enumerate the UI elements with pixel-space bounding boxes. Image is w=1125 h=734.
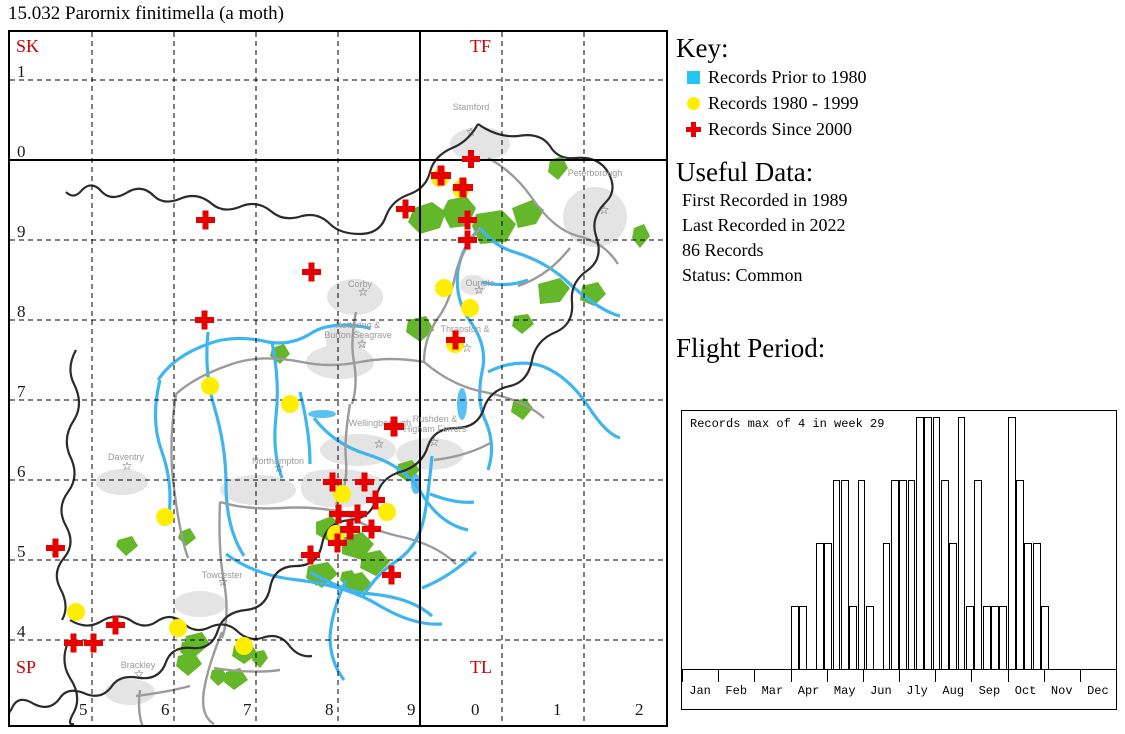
chart-bar (866, 606, 874, 669)
chart-bar (841, 480, 849, 669)
chart-bar (858, 480, 866, 669)
map-y-label-5: 5 (17, 542, 26, 562)
grid-corner-TF: TF (470, 36, 491, 57)
chart-bar (833, 480, 841, 669)
svg-text:Burton Seagrave: Burton Seagrave (324, 330, 392, 340)
key-label-pre-1980: Records Prior to 1980 (708, 67, 866, 88)
chart-bar (1008, 417, 1016, 669)
chart-bar (974, 480, 982, 669)
svg-text:Corby: Corby (348, 279, 373, 289)
page-title: 15.032 Parornix finitimella (a moth) (8, 2, 284, 26)
map-x-label-7: 7 (243, 700, 252, 720)
month-tick (682, 670, 683, 682)
chart-bar (899, 480, 907, 669)
record-markers-1980-1999 (67, 169, 479, 655)
chart-bar (1024, 543, 1032, 669)
month-tick (1008, 670, 1009, 682)
month-label-cell: Mar (754, 670, 790, 709)
chart-bar (941, 480, 949, 669)
month-label-cell: May (827, 670, 863, 709)
svg-text:☆: ☆ (374, 437, 385, 451)
month-tick (935, 670, 936, 682)
month-label-cell: Jun (863, 670, 899, 709)
month-name: May (827, 684, 863, 698)
cross-icon (682, 122, 704, 137)
useful-data-last-recorded: Last Recorded in 2022 (682, 213, 1117, 238)
month-name: Sep (971, 684, 1007, 698)
chart-bar (1033, 543, 1041, 669)
chart-bar (883, 543, 891, 669)
key-item-pre-1980: Records Prior to 1980 (682, 64, 1117, 90)
key-label-since-2000: Records Since 2000 (708, 119, 852, 140)
month-tick (827, 670, 828, 682)
month-label-cell: Sep (971, 670, 1007, 709)
flight-period-chart[interactable]: Records max of 4 in week 29 JanFebMarApr… (681, 410, 1117, 710)
chart-bar (849, 606, 857, 669)
month-name: Aug (935, 684, 971, 698)
map-y-label-7: 7 (17, 382, 26, 402)
map-x-label-2: 2 (635, 700, 644, 720)
month-tick (718, 670, 719, 682)
month-name: Dec (1080, 684, 1116, 698)
month-tick (971, 670, 972, 682)
month-label-cell: Dec (1080, 670, 1116, 709)
chart-bar (933, 417, 941, 669)
svg-text:Brackley: Brackley (121, 660, 156, 670)
key-label-1980-1999: Records 1980 - 1999 (708, 93, 858, 114)
flight-period-heading: Flight Period: (676, 332, 1117, 364)
month-label-cell: Apr (791, 670, 827, 709)
useful-data-first-recorded: First Recorded in 1989 (682, 188, 1117, 213)
month-label-cell: Jly (899, 670, 935, 709)
month-tick (899, 670, 900, 682)
month-name: Jly (899, 684, 935, 698)
map-graphic: ☆ ☆ ☆ ☆ ☆ ☆ ☆ ☆ ☆ ☆ ☆ ☆ Stamford Peterbo… (10, 32, 666, 725)
key-heading: Key: (676, 32, 1117, 64)
circle-icon (682, 97, 704, 110)
svg-text:Thrapston &: Thrapston & (440, 324, 489, 334)
chart-plot-area (682, 411, 1116, 669)
chart-bar (916, 417, 924, 669)
svg-text:☆: ☆ (466, 125, 477, 139)
map-y-label-8: 8 (17, 302, 26, 322)
chart-bar (966, 606, 974, 669)
key-item-since-2000: Records Since 2000 (682, 116, 1117, 142)
chart-bar (949, 543, 957, 669)
svg-text:Stamford: Stamford (453, 102, 490, 112)
grid-corner-SK: SK (16, 36, 39, 57)
svg-text:Peterborough: Peterborough (568, 168, 623, 178)
month-name: Mar (754, 684, 790, 698)
useful-data-status: Status: Common (682, 263, 1117, 288)
svg-text:Towcester: Towcester (202, 570, 243, 580)
chart-bar (908, 480, 916, 669)
map-y-label-6: 6 (17, 462, 26, 482)
month-label-cell: Jan (682, 670, 718, 709)
map-y-label-1: 1 (17, 62, 26, 82)
map-x-label-5: 5 (79, 700, 88, 720)
month-label-cell: Aug (935, 670, 971, 709)
svg-text:Rushden &: Rushden & (413, 414, 458, 424)
chart-bar (1041, 606, 1049, 669)
month-tick (791, 670, 792, 682)
svg-text:☆: ☆ (599, 203, 610, 217)
month-name: Oct (1008, 684, 1044, 698)
chart-bar (958, 417, 966, 669)
chart-bar (991, 606, 999, 669)
chart-bar (791, 606, 799, 669)
month-name: Apr (791, 684, 827, 698)
map-x-label-0: 0 (471, 700, 480, 720)
month-tick (863, 670, 864, 682)
map-x-label-9: 9 (407, 700, 416, 720)
month-name: Feb (718, 684, 754, 698)
month-tick (1080, 670, 1081, 682)
month-name: Jan (682, 684, 718, 698)
grid-corner-TL: TL (470, 657, 492, 678)
chart-bar (891, 480, 899, 669)
map-x-label-1: 1 (553, 700, 562, 720)
svg-text:Daventry: Daventry (108, 452, 145, 462)
useful-data-record-count: 86 Records (682, 238, 1117, 263)
svg-text:Northampton: Northampton (252, 456, 304, 466)
month-label-cell: Nov (1044, 670, 1080, 709)
map-y-label-9: 9 (17, 222, 26, 242)
month-label-cell: Feb (718, 670, 754, 709)
month-name: Jun (863, 684, 899, 698)
map-y-label-0: 0 (17, 142, 26, 162)
month-name: Nov (1044, 684, 1080, 698)
map-y-label-4: 4 (17, 622, 26, 642)
svg-text:Oundle: Oundle (465, 278, 494, 288)
chart-bar (924, 417, 932, 669)
grid-corner-SP: SP (16, 657, 36, 678)
map-grid (10, 32, 666, 725)
month-tick (754, 670, 755, 682)
chart-bar (999, 606, 1007, 669)
chart-bar (1016, 480, 1024, 669)
chart-bar (983, 606, 991, 669)
svg-text:Kettering &: Kettering & (336, 320, 381, 330)
month-tick (1044, 670, 1045, 682)
svg-text:☆: ☆ (429, 435, 440, 449)
month-label-cell: Oct (1008, 670, 1044, 709)
map-x-label-8: 8 (325, 700, 334, 720)
distribution-map-panel[interactable]: ☆ ☆ ☆ ☆ ☆ ☆ ☆ ☆ ☆ ☆ ☆ ☆ Stamford Peterbo… (8, 30, 668, 727)
key-item-1980-1999: Records 1980 - 1999 (682, 90, 1117, 116)
map-x-label-6: 6 (161, 700, 170, 720)
chart-month-axis: JanFebMarAprMayJunJlyAugSepOctNovDec (682, 670, 1116, 709)
svg-text:Higham Ferrers: Higham Ferrers (404, 424, 467, 434)
square-icon (682, 71, 704, 84)
chart-bar (816, 543, 824, 669)
chart-bar (799, 606, 807, 669)
chart-bar (824, 543, 832, 669)
useful-data-heading: Useful Data: (676, 156, 1117, 188)
